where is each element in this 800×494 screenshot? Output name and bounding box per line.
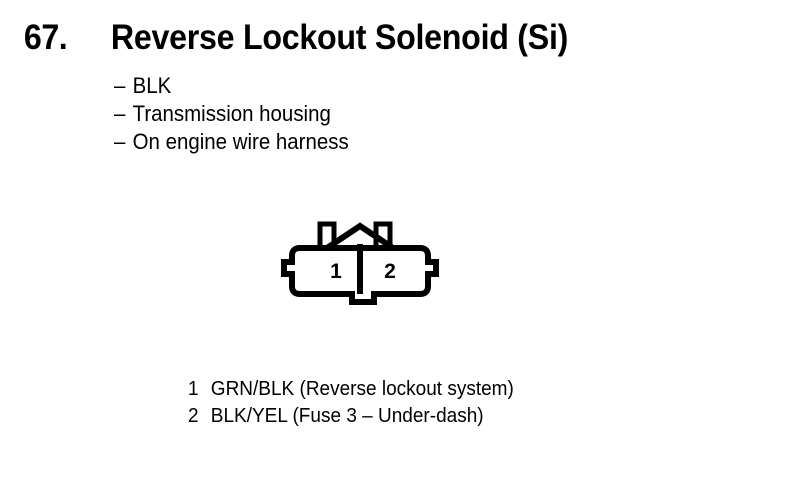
page-title: 67. Reverse Lockout Solenoid (Si) (22, 18, 588, 58)
pin-legend: 1GRN/BLK (Reverse lockout system) 2BLK/Y… (188, 376, 531, 430)
item-number: 67. (24, 18, 67, 58)
list-item-label: Transmission housing (133, 101, 331, 126)
list-item: –BLK (114, 72, 598, 100)
list-item-label: BLK (133, 73, 172, 98)
dash-bullet-icon: – (114, 72, 133, 100)
cavity-number-2: 2 (384, 260, 396, 283)
list-item: –On engine wire harness (114, 128, 598, 156)
legend-row: 1GRN/BLK (Reverse lockout system) (188, 376, 514, 403)
attribute-list: –BLK –Transmission housing –On engine wi… (114, 72, 634, 156)
cavity-number-1: 1 (330, 260, 342, 283)
legend-row: 2BLK/YEL (Fuse 3 – Under-dash) (188, 403, 514, 430)
page-canvas: 67. Reverse Lockout Solenoid (Si) –BLK –… (0, 0, 800, 494)
legend-pin-number: 1 (188, 376, 211, 403)
connector-outline-icon: 1 2 (270, 210, 460, 320)
connector-diagram: 1 2 (270, 210, 460, 320)
dash-bullet-icon: – (114, 128, 133, 156)
dash-bullet-icon: – (114, 100, 133, 128)
list-item: –Transmission housing (114, 100, 598, 128)
legend-pin-description: GRN/BLK (Reverse lockout system) (211, 378, 514, 400)
legend-pin-number: 2 (188, 403, 211, 430)
item-title: Reverse Lockout Solenoid (Si) (111, 18, 568, 58)
legend-pin-description: BLK/YEL (Fuse 3 – Under-dash) (211, 405, 484, 427)
list-item-label: On engine wire harness (133, 129, 349, 154)
